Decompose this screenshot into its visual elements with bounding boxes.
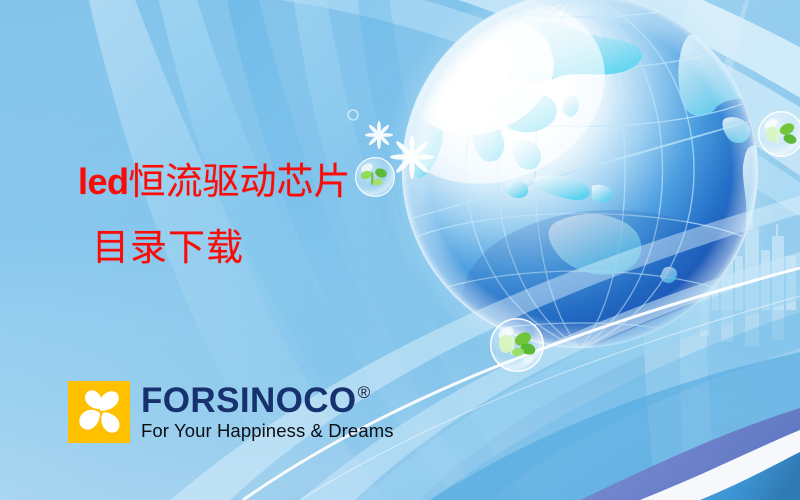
flower-petals-icon bbox=[68, 381, 130, 443]
headline-block: led恒流驱动芯片 目录下载 bbox=[78, 158, 351, 272]
headline-cjk-text: 恒流驱动芯片 bbox=[129, 160, 351, 203]
registered-trademark-symbol: ® bbox=[358, 384, 371, 401]
headline-latin-word: led bbox=[78, 161, 129, 202]
headline-line-1: led恒流驱动芯片 bbox=[78, 158, 351, 206]
sparkle-flower-large bbox=[390, 135, 434, 179]
company-logo[interactable]: FORSINOCO ® For Your Happiness & Dreams bbox=[68, 381, 394, 443]
logo-text-block: FORSINOCO ® For Your Happiness & Dreams bbox=[141, 381, 394, 441]
logo-wordmark-row: FORSINOCO ® bbox=[141, 383, 394, 418]
headline-line-2: 目录下载 bbox=[92, 224, 351, 272]
sparkle-flower-small bbox=[365, 121, 393, 149]
bubble-seedling-small bbox=[355, 157, 395, 197]
bubble-seedling-large bbox=[490, 318, 544, 372]
four-petal-flower-mark bbox=[68, 381, 130, 443]
promotional-banner: led恒流驱动芯片 目录下载 FORSINOCO ® For Your Happ… bbox=[0, 0, 800, 500]
logo-wordmark: FORSINOCO bbox=[141, 383, 357, 418]
logo-tagline: For Your Happiness & Dreams bbox=[141, 421, 394, 441]
